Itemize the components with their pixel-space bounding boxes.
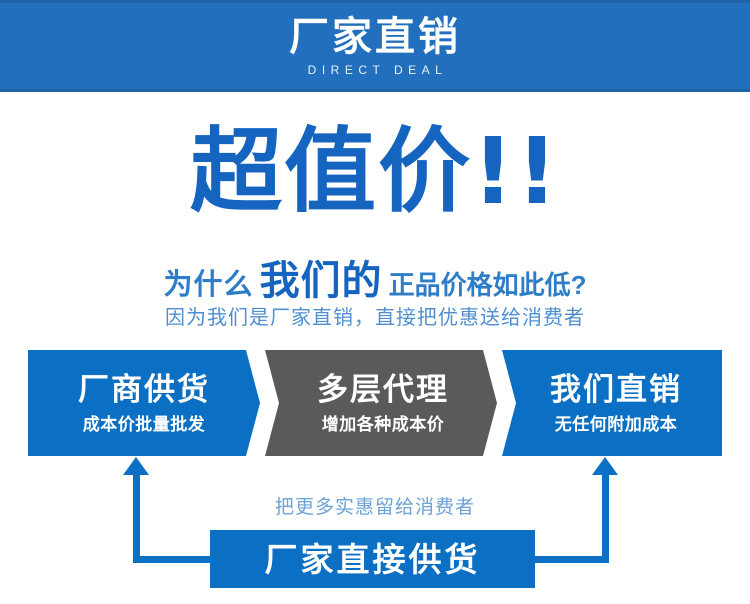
arrow-up-left-icon: [123, 457, 149, 475]
bottom-caption: 把更多实惠留给消费者: [0, 492, 750, 519]
hero-headline: 超值价!!: [0, 126, 750, 218]
header-banner: 厂家直销 DIRECT DEAL: [0, 0, 750, 92]
step-box-direct-sale: 我们直销 无任何附加成本: [502, 350, 722, 456]
header-title: 厂家直销: [289, 17, 461, 58]
connector-run-left: [133, 556, 215, 563]
step-title: 厂商供货: [78, 374, 210, 405]
step-title: 多层代理: [317, 374, 449, 405]
bottom-box-label: 厂家直接供货: [265, 543, 481, 576]
steps-row: 厂商供货 成本价批量批发 多层代理 增加各种成本价 我们直销 无任何附加成本: [0, 350, 750, 456]
step-subtitle: 成本价批量批发: [83, 416, 206, 433]
hero-section: 超值价!!: [0, 126, 750, 218]
step-subtitle: 无任何附加成本: [555, 416, 678, 433]
question-emphasis: 我们的: [260, 259, 383, 303]
step-box-agents: 多层代理 增加各种成本价: [265, 350, 497, 456]
step-box-supplier: 厂商供货 成本价批量批发: [28, 350, 260, 456]
step-subtitle: 增加各种成本价: [322, 416, 445, 433]
connector-run-right: [530, 556, 609, 563]
arrow-up-right-icon: [592, 457, 618, 475]
question-prefix: 为什么: [164, 269, 254, 301]
question-suffix: 正品价格如此低?: [389, 270, 587, 300]
header-subtitle: DIRECT DEAL: [303, 63, 448, 77]
step-title: 我们直销: [550, 374, 682, 405]
bottom-box-direct-supply: 厂家直接供货: [210, 530, 535, 588]
description-text: 因为我们是厂家直销，直接把优惠送给消费者: [0, 301, 750, 330]
question-line: 为什么我们的正品价格如此低?: [0, 248, 750, 306]
